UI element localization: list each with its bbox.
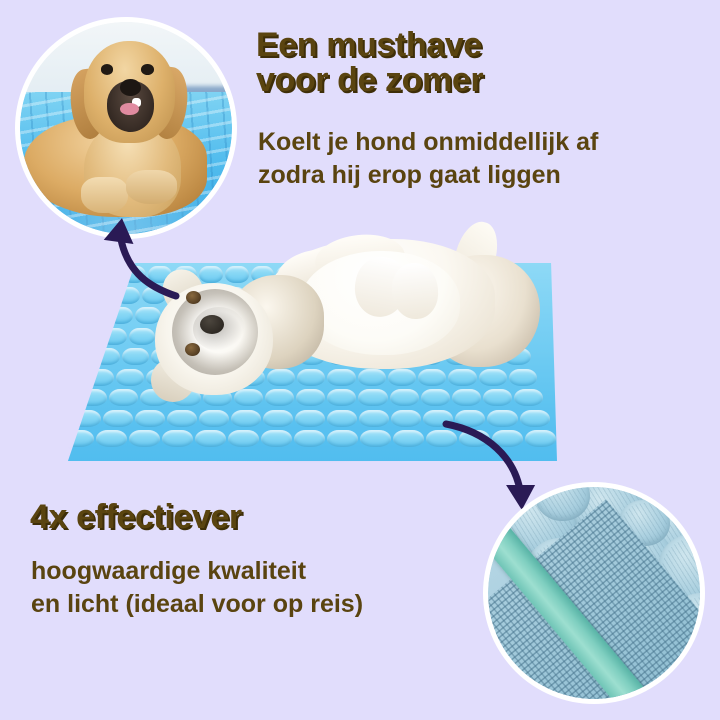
mat-quilt-cell	[263, 410, 293, 427]
mat-quilt-cell	[448, 369, 476, 386]
dog-photo-scene	[20, 22, 232, 234]
mat-quilt-cell	[103, 410, 133, 427]
arrow-mat-to-dog-inset	[90, 212, 200, 302]
page-title-bottom: 4x effectiever	[30, 500, 242, 535]
mat-quilt-cell	[261, 430, 292, 447]
mat-quilt-cell	[129, 430, 160, 447]
mat-quilt-cell	[295, 410, 325, 427]
mat-quilt-cell	[327, 410, 357, 427]
headline-top-line1: Een musthave	[256, 26, 482, 64]
mat-quilt-cell	[267, 369, 295, 386]
mat-quilt-cell	[421, 389, 450, 406]
mat-quilt-cell	[452, 389, 481, 406]
subcopy-bottom: hoogwaardige kwaliteiten licht (ideaal v…	[31, 555, 363, 620]
dog-photo-frame	[20, 22, 232, 234]
mat-quilt-cell	[358, 369, 386, 386]
mat-quilt-cell	[358, 389, 387, 406]
mat-quilt-cell	[418, 369, 446, 386]
mat-quilt-cell	[359, 410, 389, 427]
mat-quilt-cell	[393, 430, 424, 447]
mat-quilt-cell	[70, 410, 100, 427]
dog-tongue	[120, 103, 139, 116]
inset-photo-fabric	[488, 487, 700, 699]
mat-quilt-cell	[297, 369, 325, 386]
mat-quilt-cell	[360, 430, 391, 447]
mat-quilt-cell	[100, 328, 126, 345]
mat-quilt-cell	[479, 369, 507, 386]
mat-quilt-cell	[129, 328, 155, 345]
puppy-eye-right	[185, 343, 200, 356]
dog-eye-left	[101, 64, 114, 75]
mat-quilt-cell	[162, 430, 193, 447]
mat-quilt-row	[77, 389, 545, 406]
mat-quilt-cell	[195, 430, 226, 447]
mat-quilt-cell	[390, 389, 419, 406]
mat-quilt-cell	[327, 430, 358, 447]
page-title-top: Een musthavevoor de zomer	[256, 28, 483, 97]
mat-quilt-cell	[514, 389, 543, 406]
subcopy-top-line2: zodra hij erop gaat liggen	[258, 161, 561, 189]
fabric-photo-scene	[488, 487, 700, 699]
subcopy-top: Koelt je hond onmiddellijk afzodra hij e…	[258, 126, 598, 191]
mat-quilt-cell	[199, 410, 229, 427]
mat-quilt-cell	[93, 348, 120, 365]
fabric-photo-frame	[488, 487, 700, 699]
mat-quilt-cell	[391, 410, 421, 427]
mat-quilt-cell	[228, 430, 259, 447]
subcopy-bottom-line2: en licht (ideaal voor op reis)	[31, 590, 363, 618]
mat-quilt-cell	[116, 369, 144, 386]
mat-quilt-cell	[225, 266, 249, 283]
mat-quilt-cell	[265, 389, 294, 406]
mat-quilt-cell	[108, 307, 134, 324]
subcopy-top-line1: Koelt je hond onmiddellijk af	[258, 128, 598, 156]
mat-quilt-cell	[167, 410, 197, 427]
mat-quilt-cell	[85, 369, 113, 386]
mat-quilt-cell	[483, 389, 512, 406]
mat-quilt-cell	[122, 348, 149, 365]
promo-graphic: Een musthavevoor de zomer Koelt je hond …	[0, 0, 720, 720]
puppy-nose	[200, 315, 224, 334]
mat-quilt-cell	[199, 266, 223, 283]
dog-nose	[120, 79, 141, 96]
mat-quilt-cell	[327, 389, 356, 406]
mat-quilt-cell	[96, 430, 127, 447]
mat-quilt-cell	[231, 410, 261, 427]
inset-photo-dog	[20, 22, 232, 234]
dog-eye-right	[141, 64, 154, 75]
mat-quilt-cell	[109, 389, 138, 406]
mat-quilt-cell	[63, 430, 94, 447]
headline-top-line2: voor de zomer	[256, 61, 483, 99]
mat-quilt-cell	[135, 410, 165, 427]
mat-quilt-cell	[294, 430, 325, 447]
mat-quilt-cell	[327, 369, 355, 386]
mat-quilt-cell	[234, 389, 263, 406]
mat-quilt-cell	[509, 369, 537, 386]
dog-paw-right	[126, 170, 177, 204]
mat-quilt-cell	[388, 369, 416, 386]
subcopy-bottom-line1: hoogwaardige kwaliteit	[31, 557, 306, 585]
mat-quilt-cell	[296, 389, 325, 406]
dog-paw-left	[81, 177, 128, 213]
mat-quilt-cell	[78, 389, 107, 406]
